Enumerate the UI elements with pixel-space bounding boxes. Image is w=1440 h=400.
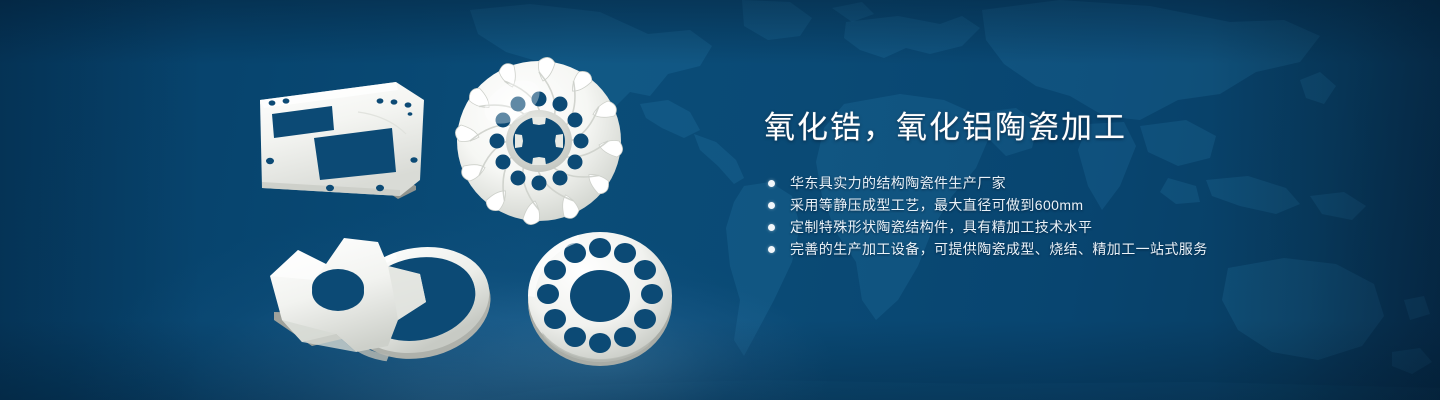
list-item: 定制特殊形状陶瓷结构件，具有精加工技术水平 xyxy=(768,216,1384,238)
marketing-copy: 氧化锆，氧化铝陶瓷加工 华东具实力的结构陶瓷件生产厂家 采用等静压成型工艺，最大… xyxy=(764,108,1384,260)
list-item: 华东具实力的结构陶瓷件生产厂家 xyxy=(768,172,1384,194)
list-item: 完善的生产加工设备，可提供陶瓷成型、烧结、精加工一站式服务 xyxy=(768,238,1384,260)
ceramic-perforated-disc-image xyxy=(512,222,692,372)
bullet-dot-icon xyxy=(768,246,775,253)
feature-text: 采用等静压成型工艺，最大直径可做到600mm xyxy=(790,197,1083,213)
ceramic-impeller-image xyxy=(446,46,636,236)
page-title: 氧化锆，氧化铝陶瓷加工 xyxy=(764,108,1384,148)
bullet-dot-icon xyxy=(768,202,775,209)
list-item: 采用等静压成型工艺，最大直径可做到600mm xyxy=(768,194,1384,216)
bullet-dot-icon xyxy=(768,180,775,187)
feature-text: 完善的生产加工设备，可提供陶瓷成型、烧结、精加工一站式服务 xyxy=(790,241,1208,257)
ceramic-cross-plate-and-ring-image xyxy=(246,222,526,367)
bullet-dot-icon xyxy=(768,224,775,231)
ceramic-processing-banner: 氧化锆，氧化铝陶瓷加工 华东具实力的结构陶瓷件生产厂家 采用等静压成型工艺，最大… xyxy=(0,0,1440,400)
feature-list: 华东具实力的结构陶瓷件生产厂家 采用等静压成型工艺，最大直径可做到600mm 定… xyxy=(768,172,1384,260)
product-images xyxy=(0,0,760,400)
ceramic-mounting-plate-image xyxy=(248,78,448,208)
feature-text: 华东具实力的结构陶瓷件生产厂家 xyxy=(790,175,1006,191)
feature-text: 定制特殊形状陶瓷结构件，具有精加工技术水平 xyxy=(790,219,1092,235)
